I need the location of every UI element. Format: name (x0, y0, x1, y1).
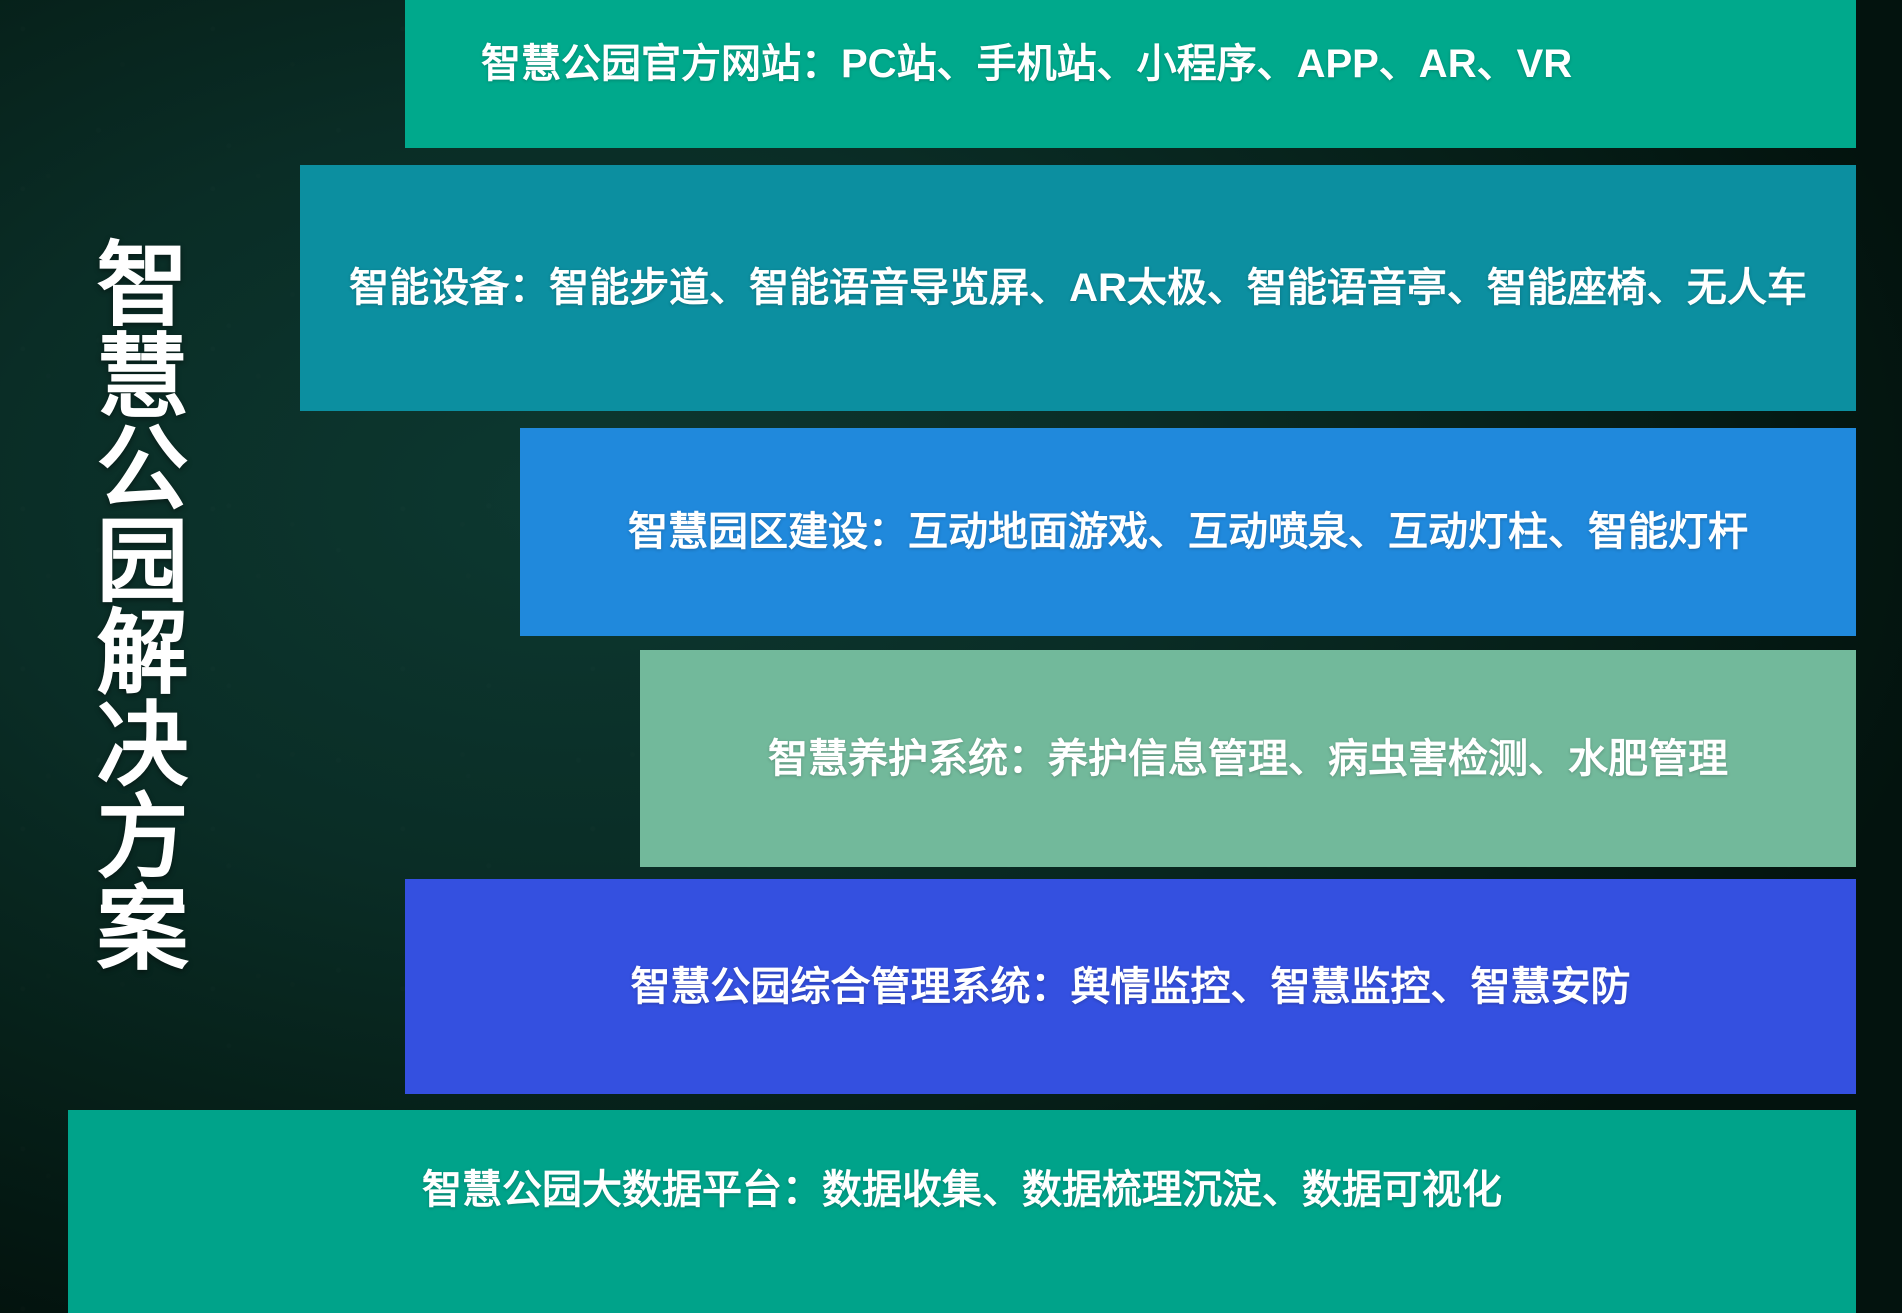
layer-bar-smart-maintenance-system[interactable]: 智慧养护系统：养护信息管理、病虫害检测、水肥管理 (640, 650, 1856, 867)
layer-label-smart-devices: 智能设备：智能步道、智能语音导览屏、AR太极、智能语音亭、智能座椅、无人车 (300, 264, 1856, 312)
layer-bar-big-data-platform[interactable]: 智慧公园大数据平台：数据收集、数据梳理沉淀、数据可视化 (68, 1110, 1856, 1313)
layer-label-official-website: 智慧公园官方网站：PC站、手机站、小程序、APP、AR、VR (481, 40, 1572, 88)
layer-label-smart-maintenance-system: 智慧养护系统：养护信息管理、病虫害检测、水肥管理 (640, 735, 1856, 783)
layer-bar-integrated-management-system[interactable]: 智慧公园综合管理系统：舆情监控、智慧监控、智慧安防 (405, 879, 1856, 1094)
layer-bar-smart-devices[interactable]: 智能设备：智能步道、智能语音导览屏、AR太极、智能语音亭、智能座椅、无人车 (300, 165, 1856, 411)
layer-label-big-data-platform: 智慧公园大数据平台：数据收集、数据梳理沉淀、数据可视化 (68, 1166, 1856, 1214)
slide-canvas: 智慧公园解决方案 智慧公园官方网站：PC站、手机站、小程序、APP、AR、VR … (0, 0, 1902, 1313)
page-title-vertical: 智慧公园解决方案 (70, 236, 182, 824)
layer-label-integrated-management-system: 智慧公园综合管理系统：舆情监控、智慧监控、智慧安防 (405, 963, 1856, 1011)
layer-bar-official-website[interactable]: 智慧公园官方网站：PC站、手机站、小程序、APP、AR、VR (405, 0, 1856, 148)
layer-bar-smart-park-construction[interactable]: 智慧园区建设：互动地面游戏、互动喷泉、互动灯柱、智能灯杆 (520, 428, 1856, 636)
layer-label-smart-park-construction: 智慧园区建设：互动地面游戏、互动喷泉、互动灯柱、智能灯杆 (520, 508, 1856, 556)
